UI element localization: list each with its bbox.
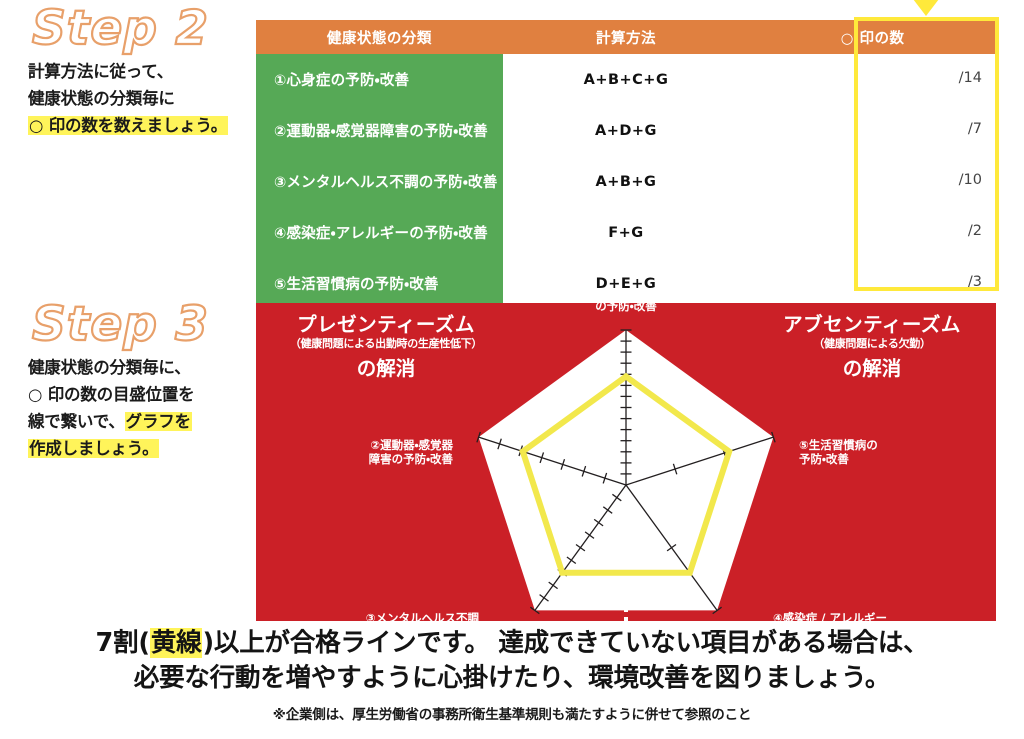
step3-line-1: 健康状態の分類毎に、	[28, 355, 209, 382]
footer-note: ※企業側は、厚生労働省の事務所衛生基準規則も満たすように併せて参照のこと	[0, 703, 1024, 723]
cell-calculation: D+E+G	[503, 258, 750, 309]
step3-block: Step 3 健康状態の分類毎に、 ○ 印の数の目盛位置を 線で繋いで、グラフを…	[28, 300, 209, 462]
header-calculation: 計算方法	[503, 20, 750, 54]
footer-line-2: 必要な行動を増やすように心掛けたり、環境改善を図りましょう。	[0, 661, 1024, 696]
step2-title: Step 2	[32, 4, 228, 53]
cell-calculation: A+B+C+G	[503, 54, 750, 105]
step3-line-3-text: 線で繋いで、	[28, 412, 125, 431]
step2-line-2: 健康状態の分類毎に	[28, 86, 228, 113]
poster-page: Step 2 計算方法に従って、 健康状態の分類毎に ○ 印の数を数えましょう。…	[0, 0, 1024, 739]
footer-line1-pre: 7割(	[96, 628, 150, 658]
radar-chart-panel: プレゼンティーズム （健康問題による出勤時の生産性低下） の解消 アブセンティー…	[256, 303, 996, 621]
step2-line-1-text: 計算方法に従って、	[28, 62, 173, 81]
cell-calculation: F+G	[503, 207, 750, 258]
radar-chart-svg: ①心身症(ストレス性内科疾患)の予防・改善⑤生活習慣病の予防・改善④感染症 / …	[256, 303, 996, 621]
step3-line-1-text: 健康状態の分類毎に、	[28, 358, 191, 377]
footer-line1-highlight: 黄線	[150, 628, 203, 658]
step3-line-4: 作成しましょう。	[28, 436, 209, 463]
table-body: ①心身症の予防・改善 A+B+C+G /14 ②運動器・感覚器障害の予防・改善 …	[256, 54, 996, 309]
table-row: ①心身症の予防・改善 A+B+C+G /14	[256, 54, 996, 105]
cell-count-entry[interactable]: /14	[749, 54, 996, 105]
step3-line-4-text: 作成しましょう。	[28, 439, 159, 458]
step2-line-1: 計算方法に従って、	[28, 59, 228, 86]
step3-instructions: 健康状態の分類毎に、 ○ 印の数の目盛位置を 線で繋いで、グラフを 作成しましょ…	[28, 355, 209, 462]
cell-category: ②運動器・感覚器障害の予防・改善	[256, 105, 503, 156]
radar-axis-label: ④感染症 / アレルギーの予防・改善	[773, 611, 887, 621]
cell-calculation: A+B+G	[503, 156, 750, 207]
radar-axis-label: ⑤生活習慣病の予防・改善	[799, 438, 878, 466]
step2-line-2-text: 健康状態の分類毎に	[28, 89, 175, 108]
step3-line-3-tail: グラフを	[125, 412, 192, 431]
radar-axis-label: ①心身症(ストレス性内科疾患)の予防・改善	[547, 303, 705, 313]
cell-calculation: A+D+G	[503, 105, 750, 156]
radar-axis-label: ③メンタルヘルス不調の予防・改善	[366, 611, 480, 621]
step2-line-3: ○ 印の数を数えましょう。	[28, 113, 228, 140]
table-header-row: 健康状態の分類 計算方法 ○ 印の数	[256, 20, 996, 54]
table-row: ⑤生活習慣病の予防・改善 D+E+G /3	[256, 258, 996, 309]
footer-line-1: 7割(黄線)以上が合格ラインです。 達成できていない項目がある場合は、	[0, 626, 1024, 661]
header-circle-count: ○ 印の数	[749, 20, 996, 54]
cell-count-entry[interactable]: /10	[749, 156, 996, 207]
step2-instructions: 計算方法に従って、 健康状態の分類毎に ○ 印の数を数えましょう。	[28, 59, 228, 139]
footer-line1-post: )以上が合格ラインです。 達成できていない項目がある場合は、	[202, 628, 928, 658]
step3-line-2: ○ 印の数の目盛位置を	[28, 382, 209, 409]
footer-block: 7割(黄線)以上が合格ラインです。 達成できていない項目がある場合は、 必要な行…	[0, 626, 1024, 723]
table-row: ④感染症・アレルギーの予防・改善 F+G /2	[256, 207, 996, 258]
cell-category: ①心身症の予防・改善	[256, 54, 503, 105]
health-count-table: 健康状態の分類 計算方法 ○ 印の数 ①心身症の予防・改善 A+B+C+G /1…	[256, 20, 996, 309]
cell-category: ③メンタルヘルス不調の予防・改善	[256, 156, 503, 207]
header-category: 健康状態の分類	[256, 20, 503, 54]
step3-line-2-text: ○ 印の数の目盛位置を	[28, 385, 194, 404]
step3-line-3: 線で繋いで、グラフを	[28, 409, 209, 436]
cell-count-entry[interactable]: /2	[749, 207, 996, 258]
step2-line-3-text: ○ 印の数を数えましょう。	[28, 116, 228, 135]
table-row: ③メンタルヘルス不調の予防・改善 A+B+G /10	[256, 156, 996, 207]
down-arrow-icon	[913, 0, 939, 16]
cell-count-entry[interactable]: /3	[749, 258, 996, 309]
cell-count-entry[interactable]: /7	[749, 105, 996, 156]
radar-axis-label: ②運動器・感覚器障害の予防・改善	[369, 438, 454, 466]
table-row: ②運動器・感覚器障害の予防・改善 A+D+G /7	[256, 105, 996, 156]
cell-category: ⑤生活習慣病の予防・改善	[256, 258, 503, 309]
cell-category: ④感染症・アレルギーの予防・改善	[256, 207, 503, 258]
step3-title: Step 3	[32, 300, 209, 349]
step2-block: Step 2 計算方法に従って、 健康状態の分類毎に ○ 印の数を数えましょう。	[28, 4, 228, 140]
